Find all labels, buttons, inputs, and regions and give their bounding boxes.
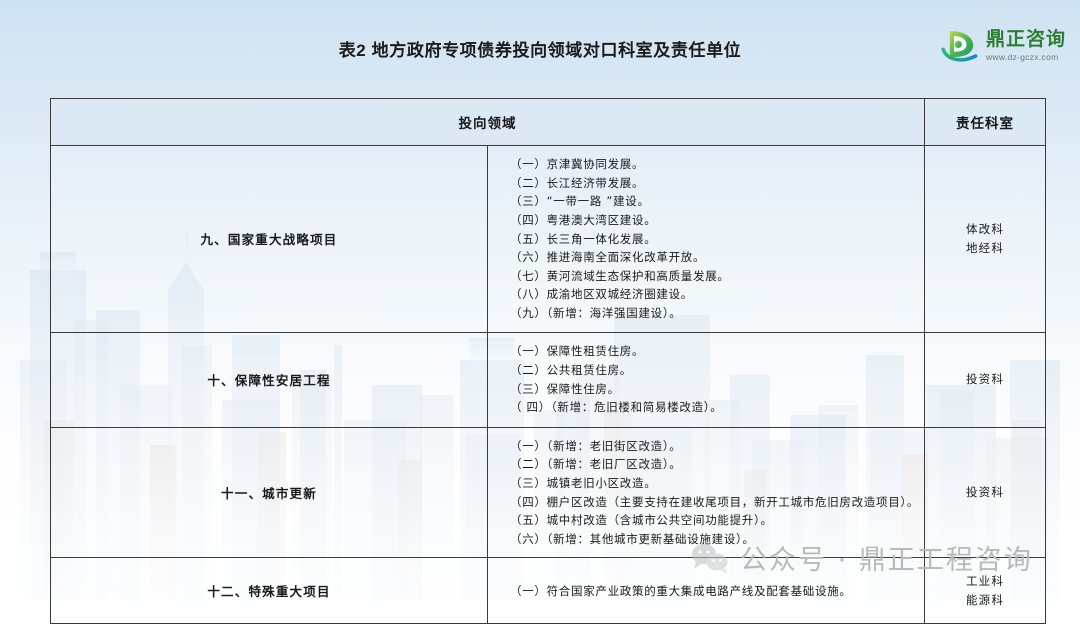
table-row: 十二、特殊重大项目（一）符合国家产业政策的重大集成电路产线及配套基础设施。工业科… <box>51 558 1046 624</box>
row-department: 投资科 <box>925 427 1046 558</box>
row-items: （一）保障性租赁住房。（二）公共租赁住房。（三）保障性住房。（ 四）（新增：危旧… <box>488 332 925 427</box>
department-name: 投资科 <box>926 483 1044 502</box>
list-item: （九）（新增：海洋强国建设）。 <box>510 304 914 323</box>
list-item: （二）（新增：老旧厂区改造）。 <box>510 455 914 474</box>
list-item: （二）长江经济带发展。 <box>510 174 914 193</box>
department-name: 体改科 <box>926 220 1044 239</box>
table-container: 投向领域 责任科室 九、国家重大战略项目（一）京津冀协同发展。（二）长江经济带发… <box>50 98 1046 624</box>
row-category: 十、保障性安居工程 <box>51 332 488 427</box>
list-item: （ 四）（新增：危旧楼和简易楼改造）。 <box>510 398 914 417</box>
table-row: 十一、城市更新（一）（新增：老旧街区改造）。（二）（新增：老旧厂区改造）。（三）… <box>51 427 1046 558</box>
row-items: （一）京津冀协同发展。（二）长江经济带发展。（三）“一带一路 ”建设。（四）粤港… <box>488 146 925 333</box>
department-name: 工业科 <box>926 572 1044 591</box>
header-field: 投向领域 <box>51 99 925 146</box>
department-name: 能源科 <box>926 591 1044 610</box>
list-item: （三）城镇老旧小区改造。 <box>510 474 914 493</box>
list-item: （一）（新增：老旧街区改造）。 <box>510 437 914 456</box>
list-item: （三）保障性住房。 <box>510 380 914 399</box>
table-row: 十、保障性安居工程（一）保障性租赁住房。（二）公共租赁住房。（三）保障性住房。（… <box>51 332 1046 427</box>
list-item: （七）黄河流域生态保护和高质量发展。 <box>510 267 914 286</box>
list-item: （四）粤港澳大湾区建设。 <box>510 211 914 230</box>
list-item: （一）保障性租赁住房。 <box>510 342 914 361</box>
row-department: 工业科能源科 <box>925 558 1046 624</box>
row-category: 十二、特殊重大项目 <box>51 558 488 624</box>
table-body: 九、国家重大战略项目（一）京津冀协同发展。（二）长江经济带发展。（三）“一带一路… <box>51 146 1046 624</box>
list-item: （一）符合国家产业政策的重大集成电路产线及配套基础设施。 <box>510 582 914 601</box>
brand-name: 鼎正咨询 <box>986 30 1066 49</box>
list-item: （四）棚户区改造（主要支持在建收尾项目，新开工城市危旧房改造项目）。 <box>510 493 914 512</box>
list-item: （三）“一带一路 ”建设。 <box>510 192 914 211</box>
row-department: 投资科 <box>925 332 1046 427</box>
department-name: 投资科 <box>926 370 1044 389</box>
row-category: 九、国家重大战略项目 <box>51 146 488 333</box>
table-row: 九、国家重大战略项目（一）京津冀协同发展。（二）长江经济带发展。（三）“一带一路… <box>51 146 1046 333</box>
row-items: （一）符合国家产业政策的重大集成电路产线及配套基础设施。 <box>488 558 925 624</box>
list-item: （五）长三角一体化发展。 <box>510 230 914 249</box>
policy-table: 投向领域 责任科室 九、国家重大战略项目（一）京津冀协同发展。（二）长江经济带发… <box>50 98 1046 624</box>
list-item: （一）京津冀协同发展。 <box>510 155 914 174</box>
row-items: （一）（新增：老旧街区改造）。（二）（新增：老旧厂区改造）。（三）城镇老旧小区改… <box>488 427 925 558</box>
list-item: （二）公共租赁住房。 <box>510 361 914 380</box>
header-dept: 责任科室 <box>925 99 1046 146</box>
department-name: 地经科 <box>926 239 1044 258</box>
list-item: （六）（新增：其他城市更新基础设施建设）。 <box>510 530 914 549</box>
leaf-d-logo-icon <box>939 26 979 66</box>
brand-url: www.dz-gczx.com <box>986 53 1066 62</box>
list-item: （六）推进海南全面深化改革开放。 <box>510 248 914 267</box>
brand-logo: 鼎正咨询 www.dz-gczx.com <box>939 26 1066 66</box>
list-item: （五）城中村改造（含城市公共空间功能提升）。 <box>510 511 914 530</box>
table-header-row: 投向领域 责任科室 <box>51 99 1046 146</box>
row-department: 体改科地经科 <box>925 146 1046 333</box>
row-category: 十一、城市更新 <box>51 427 488 558</box>
page-title: 表2 地方政府专项债券投向领域对口科室及责任单位 <box>0 36 1080 61</box>
list-item: （八）成渝地区双城经济圈建设。 <box>510 285 914 304</box>
